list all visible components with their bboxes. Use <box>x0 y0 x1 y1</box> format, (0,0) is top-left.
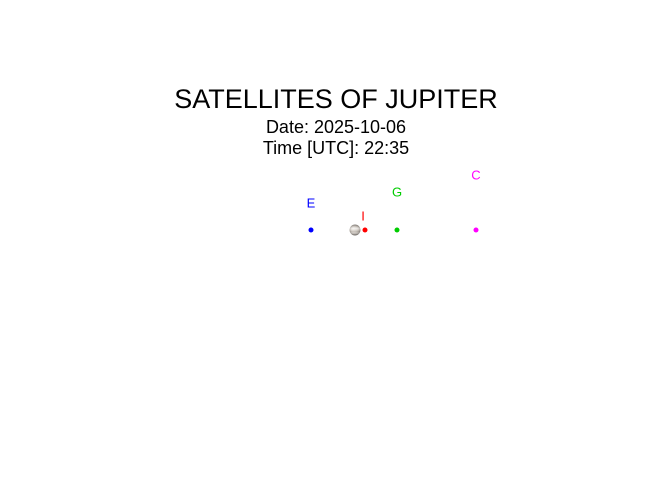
observation-time: Time [UTC]: 22:35 <box>0 138 672 158</box>
moon-marker-io <box>363 228 368 233</box>
moon-label-europa: E <box>307 197 316 210</box>
moon-marker-europa <box>309 228 314 233</box>
observation-date: Date: 2025-10-06 <box>0 117 672 137</box>
moon-label-ganymede: G <box>392 186 402 199</box>
satellite-chart-canvas: SATELLITES OF JUPITER Date: 2025-10-06 T… <box>0 0 672 480</box>
moon-label-io: I <box>361 210 365 223</box>
moon-label-callisto: C <box>471 169 480 182</box>
page-title: SATELLITES OF JUPITER <box>0 84 672 114</box>
moon-marker-callisto <box>474 228 479 233</box>
moon-marker-ganymede <box>395 228 400 233</box>
jupiter-planet-disk <box>350 225 361 236</box>
